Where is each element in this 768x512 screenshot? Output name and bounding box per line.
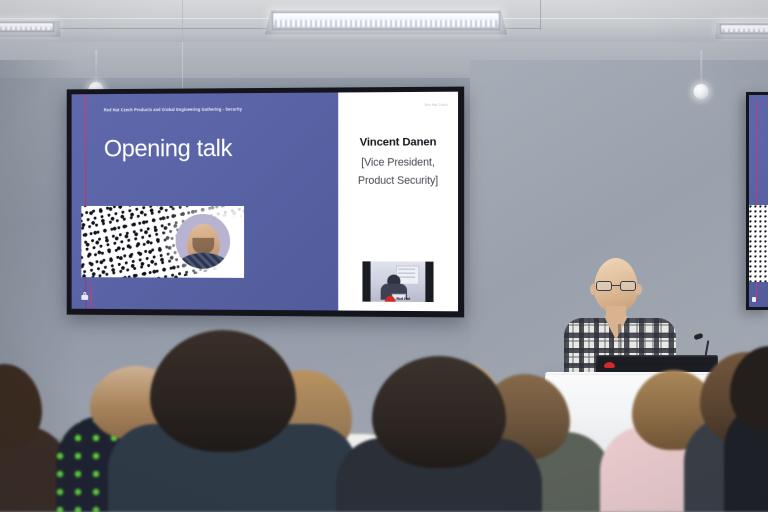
screen-bezel-inner: Red Hat Czech Products and Global Engine… (72, 92, 458, 312)
fluorescent-panel-right (720, 24, 768, 34)
slide-speaker-portrait (176, 214, 231, 269)
eyeglass-bridge (612, 285, 620, 286)
secondary-halftone (749, 205, 768, 281)
presenter-eyeglasses (595, 281, 637, 291)
secondary-display[interactable] (746, 92, 768, 310)
speaker-role-line-1: [Vice President, (338, 156, 458, 168)
fluorescent-panel-center (272, 12, 500, 30)
secondary-padlock-icon (752, 297, 756, 302)
red-hat-icon (386, 296, 395, 302)
secondary-slide (749, 95, 768, 307)
red-hat-logo-text: Red Hat (396, 297, 410, 301)
eyeglass-lens-left (596, 281, 612, 291)
slide-title: Opening talk (104, 135, 232, 163)
slide-right-pane: Red Hat Czech Vincent Danen [Vice Presid… (338, 92, 458, 312)
padlock-body (81, 295, 88, 300)
speaker-name: Vincent Danen (338, 136, 458, 149)
speaker-role-line-2: Product Security] (338, 175, 458, 187)
slide: Red Hat Czech Products and Global Engine… (72, 92, 458, 312)
audience (0, 352, 768, 512)
slide-halftone-graphic (81, 206, 244, 278)
fluorescent-panel-left (0, 22, 54, 32)
slide-eyebrow-text: Red Hat Czech Products and Global Engine… (104, 106, 242, 112)
slide-left-pane: Red Hat Czech Products and Global Engine… (72, 92, 339, 310)
main-presentation-screen[interactable]: Red Hat Czech Products and Global Engine… (67, 87, 464, 318)
video-call-thumbnail: Red Hat (362, 261, 433, 302)
red-hat-logo: Red Hat (386, 296, 410, 302)
eyeglass-lens-right (620, 281, 636, 291)
pendant-bulb (694, 84, 709, 99)
portrait-shirt (177, 253, 229, 269)
ceiling-grid-line-2 (540, 0, 541, 30)
photo-scene: Red Hat Czech Products and Global Engine… (0, 0, 768, 512)
pendant-light-right (692, 50, 710, 92)
padlock-icon (81, 292, 88, 300)
slide-accent-line-bottom (91, 283, 92, 309)
slide-panel-tag: Red Hat Czech (424, 103, 447, 107)
pendant-light-left (88, 50, 104, 90)
